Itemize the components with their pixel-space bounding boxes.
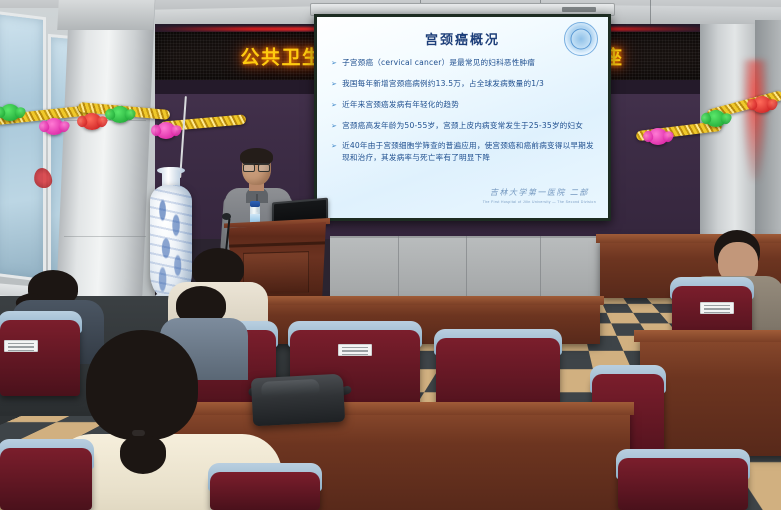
panel-seam (540, 236, 541, 298)
bullet-text: 子宫颈癌（cervical cancer）是最常见的妇科恶性肿瘤 (342, 57, 598, 69)
bullet-marker-icon: ➢ (331, 120, 337, 132)
decoration-bow (648, 128, 668, 145)
column-capital (57, 0, 155, 30)
seat[interactable] (210, 472, 320, 510)
decoration-bow (82, 113, 102, 130)
red-light-glow (742, 60, 768, 180)
slide-title: 宫颈癌概况 (317, 29, 608, 48)
seat-number-tag (338, 344, 372, 356)
list-item: ➢ 近40年由于宫颈细胞学筛查的普遍应用，使宫颈癌和癌前病变得以早期发现和治疗，… (331, 140, 598, 164)
decoration-bow (0, 104, 20, 121)
signature-subtext: The First Hospital of Jilin University —… (483, 200, 596, 204)
bullet-marker-icon: ➢ (331, 99, 337, 111)
projection-screen-frame: 宫颈癌概况 ➢ 子宫颈癌（cervical cancer）是最常见的妇科恶性肿瘤… (314, 14, 611, 221)
decoration-bow (706, 110, 726, 127)
bottle-cap (250, 201, 260, 207)
column-seam (64, 236, 146, 237)
panel-seam (398, 236, 399, 298)
person-ponytail (120, 436, 166, 474)
bullet-text: 我国每年新增宫颈癌病例约13.5万，占全球发病数量的1/3 (342, 78, 598, 90)
backpack (251, 374, 345, 427)
window-pane (0, 11, 46, 282)
list-item: ➢ 子宫颈癌（cervical cancer）是最常见的妇科恶性肿瘤 (331, 57, 598, 69)
panel-seam (466, 236, 467, 298)
microphone-icon (222, 213, 231, 220)
bottle-label (250, 214, 260, 223)
seat-number-tag (700, 302, 734, 314)
bullet-marker-icon: ➢ (331, 57, 337, 69)
bullet-text: 近40年由于宫颈细胞学筛查的普遍应用，使宫颈癌和癌前病变得以早期发现和治疗，其发… (342, 140, 598, 164)
slide-signature: 吉林大学第一医院 二部 The First Hospital of Jilin … (483, 187, 596, 204)
seat-back[interactable] (0, 448, 92, 510)
lecture-hall-scene: 公共卫生学院纪念“三查与预防》健康讲座 宫颈癌概况 ➢ 子宫颈癌（cervica… (0, 0, 781, 510)
seat[interactable] (618, 458, 748, 510)
seat[interactable] (0, 448, 92, 510)
signature-text: 吉林大学第一医院 二部 (483, 187, 596, 198)
list-item: ➢ 我国每年新增宫颈癌病例约13.5万，占全球发病数量的1/3 (331, 78, 598, 90)
screen-brand-badge (562, 7, 596, 12)
decoration-bow (752, 96, 772, 113)
decoration-bow (44, 118, 64, 135)
projection-screen: 宫颈癌概况 ➢ 子宫颈癌（cervical cancer）是最常见的妇科恶性肿瘤… (317, 17, 608, 218)
bullet-text: 宫颈癌高发年龄为50-55岁，宫颈上皮内病变常发生于25-35岁的妇女 (342, 120, 598, 132)
desk-top (634, 330, 781, 342)
list-item: ➢ 近年来宫颈癌发病有年轻化的趋势 (331, 99, 598, 111)
glasses-icon (243, 163, 270, 169)
seat-back[interactable] (618, 458, 748, 510)
slide-bullet-list: ➢ 子宫颈癌（cervical cancer）是最常见的妇科恶性肿瘤 ➢ 我国每… (331, 57, 598, 173)
decoration-bow (110, 106, 130, 123)
bullet-marker-icon: ➢ (331, 140, 337, 152)
person-hair (86, 330, 198, 440)
seat-number-tag (4, 340, 38, 352)
list-item: ➢ 宫颈癌高发年龄为50-55岁，宫颈上皮内病变常发生于25-35岁的妇女 (331, 120, 598, 132)
bullet-marker-icon: ➢ (331, 78, 337, 90)
seat-back[interactable] (210, 472, 320, 510)
decoration-bow (156, 122, 176, 139)
bullet-text: 近年来宫颈癌发病有年轻化的趋势 (342, 99, 598, 111)
